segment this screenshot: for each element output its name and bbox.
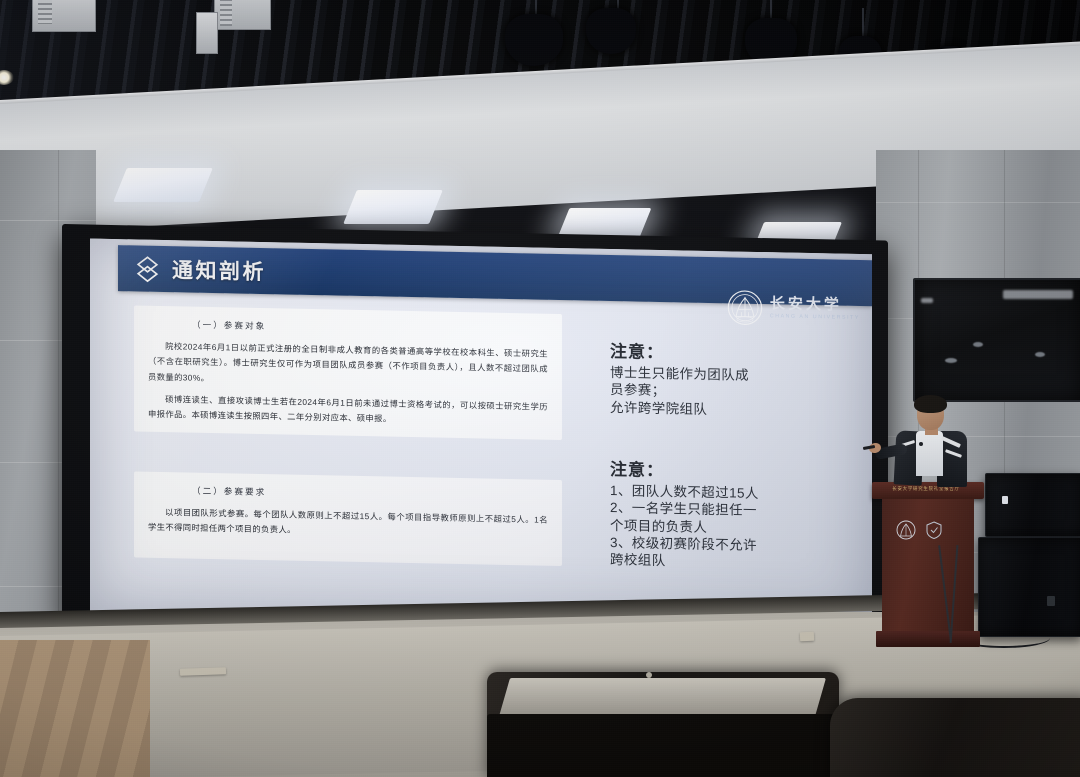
note-title: 注意： xyxy=(610,455,860,485)
podium-base xyxy=(876,631,980,647)
section-paragraph: 硕博连读生、直接攻读博士生若在2024年6月1日前未通过博士资格考试的，可以按硕… xyxy=(148,392,548,431)
note-title: 注意： xyxy=(610,337,850,367)
university-logo: 长安大学 CHANG AN UNIVERSITY xyxy=(727,289,860,328)
slide-canvas: 通知剖析 长安大学 CHANG AN UNIVE xyxy=(90,239,872,627)
section-heading: （一）参赛对象 xyxy=(192,319,548,338)
floor-object xyxy=(800,632,814,641)
auditorium-seat xyxy=(830,698,1080,777)
ceiling-ac-unit xyxy=(196,12,218,54)
seat-desk-edge xyxy=(487,714,839,777)
section-paragraph: 以项目团队形式参赛。每个团队人数原则上不超过15人。每个项目指导教师原则上不超过… xyxy=(148,505,548,544)
slide-title: 通知剖析 xyxy=(172,254,266,286)
wood-floor-patch xyxy=(0,640,150,777)
university-crest-icon xyxy=(896,520,916,540)
ceiling-hanging-fixture xyxy=(505,14,563,66)
wall-mounted-monitor xyxy=(913,278,1080,402)
presenter-hair xyxy=(914,395,947,413)
pa-speaker-bottom xyxy=(978,537,1080,637)
note-line: 跨校组队 xyxy=(610,551,860,573)
slide-card-section-2: （二）参赛要求 以项目团队形式参赛。每个团队人数原则上不超过15人。每个项目指导… xyxy=(134,471,562,566)
pa-speaker-top xyxy=(985,473,1080,537)
clip-microphone-icon xyxy=(919,442,923,446)
presenter-shirt xyxy=(916,431,943,476)
presenter xyxy=(889,398,975,494)
ceiling-ac-vent xyxy=(220,0,232,26)
speaker-indicator-led xyxy=(1002,496,1008,504)
note-line: 允许跨学院组队 xyxy=(610,399,850,421)
university-name-cn: 长安大学 xyxy=(770,297,860,314)
led-screen-bezel: 通知剖析 长安大学 CHANG AN UNIVE xyxy=(62,224,888,641)
seat-knob xyxy=(646,672,652,678)
ceiling-panel-light xyxy=(113,168,213,202)
section-heading: （二）参赛要求 xyxy=(192,485,548,504)
secondary-emblem-icon xyxy=(924,520,944,540)
ceiling-panel-light xyxy=(343,190,443,224)
note-block-2: 注意： 1、团队人数不超过15人 2、一名学生只能担任一 个项目的负责人 3、校… xyxy=(610,455,860,573)
diamond-icon xyxy=(135,255,160,283)
podium: 长安大学研究生院礼堂报告厅 xyxy=(876,482,980,652)
section-paragraph: 院校2024年6月1日以前正式注册的全日制非成人教育的各类普通高等学校在校本科生… xyxy=(148,339,548,393)
ceiling-hanging-fixture xyxy=(586,8,636,54)
slide-card-section-1: （一）参赛对象 院校2024年6月1日以前正式注册的全日制非成人教育的各类普通高… xyxy=(134,305,562,440)
university-name-en: CHANG AN UNIVERSITY xyxy=(770,315,860,322)
note-block-1: 注意： 博士生只能作为团队成 员参赛； 允许跨学院组队 xyxy=(610,337,850,421)
speaker-logo xyxy=(1047,596,1055,606)
presentation-screen: 通知剖析 长安大学 CHANG AN UNIVE xyxy=(90,239,872,627)
podium-body xyxy=(882,499,974,631)
university-crest-icon xyxy=(727,289,763,326)
ceiling-ac-vent xyxy=(38,0,52,24)
screenshot-root: 通知剖析 长安大学 CHANG AN UNIVE xyxy=(0,0,1080,777)
